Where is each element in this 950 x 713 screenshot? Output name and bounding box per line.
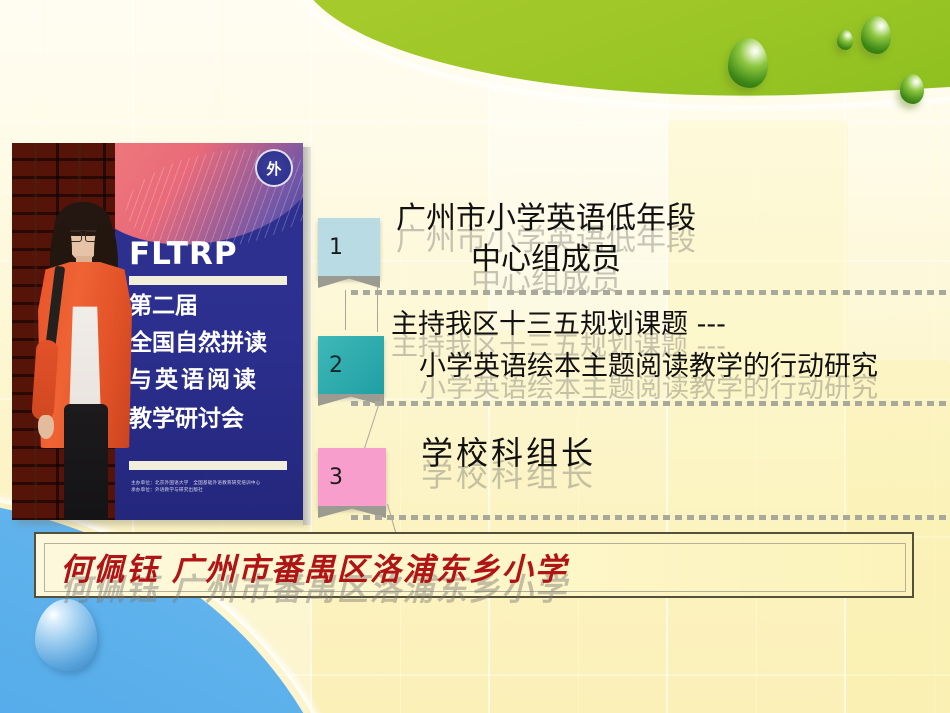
person-hand [38,415,54,439]
vertical-spine-divider [303,147,311,525]
timeline-row-1: 1 广州市小学英语低年段 中心组成员 广州市小学英语低年段 中心组成员 [311,190,950,298]
presentation-slide: 外 FLTRP 第二届 全国自然拼读 与英语阅读 教学研讨会 主办单位：北京外国… [0,0,950,713]
timeline-text-2: 主持我区十三五规划课题 --- 小学英语绘本主题阅读教学的行动研究 主持我区十三… [391,304,878,388]
person-figure [30,190,138,520]
timeline-text-3-line-1: 学校科组长 [421,428,596,474]
timeline-text-2-line-2: 小学英语绘本主题阅读教学的行动研究 [391,346,878,388]
banner-rule-bottom [129,461,287,470]
banner-fine-print-line-2: 承办单位：外语教学与研究出版社 [131,487,296,494]
timeline-divider-3 [351,515,950,520]
green-decorative-band [296,0,950,123]
timeline-text-1: 广州市小学英语低年段 中心组成员 广州市小学英语低年段 中心组成员 [396,198,696,280]
banner-line-3: 与英语阅读 [129,366,295,394]
conference-banner: 外 FLTRP 第二届 全国自然拼读 与英语阅读 教学研讨会 主办单位：北京外国… [115,143,303,520]
timeline-badge-1-number: 1 [329,235,343,260]
speaker-photo: 外 FLTRP 第二届 全国自然拼读 与英语阅读 教学研讨会 主办单位：北京外国… [12,143,303,520]
banner-fine-print-line-1: 主办单位：北京外国语大学 全国基础外语教育研究培训中心 [131,480,296,487]
timeline-row-2: 2 主持我区十三五规划课题 --- 小学英语绘本主题阅读教学的行动研究 主持我区… [311,298,950,410]
banner-line-2: 全国自然拼读 [129,329,295,357]
banner-line-1: 第二届 [129,292,295,320]
timeline-text-2-main: 主持我区十三五规划课题 --- 小学英语绘本主题阅读教学的行动研究 [391,304,878,388]
banner-fine-print: 主办单位：北京外国语大学 全国基础外语教育研究培训中心 承办单位：外语教学与研究… [131,480,296,494]
timeline-badge-1[interactable]: 1 [318,218,380,278]
banner-rule-top [129,276,287,285]
timeline-text-3: 学校科组长 学校科组长 [421,428,596,474]
timeline-text-1-line-2: 中心组成员 [396,239,696,280]
timeline-badge-2-number: 2 [329,353,343,378]
presenter-name-text: 何佩钰 广州市番禺区洛浦东乡小学 [60,544,568,589]
timeline-row-3: 3 学校科组长 学校科组长 [311,410,950,522]
timeline-badge-3-number: 3 [329,465,343,490]
timeline-badge-2[interactable]: 2 [318,336,384,396]
banner-line-4: 教学研讨会 [129,405,295,433]
timeline-text-2-line-1: 主持我区十三五规划课题 --- [391,304,878,346]
fltrp-logo-icon: 外 [255,149,293,187]
person-trousers [64,404,108,520]
timeline-divider-2 [351,401,950,406]
presenter-name-banner: 何佩钰 广州市番禺区洛浦东乡小学 何佩钰 广州市番禺区洛浦东乡小学 [34,532,914,598]
banner-brand-text: FLTRP [129,236,238,272]
timeline-badge-3[interactable]: 3 [318,448,386,508]
timeline-text-1-main: 广州市小学英语低年段 中心组成员 [396,198,696,280]
timeline-text-1-line-1: 广州市小学英语低年段 [396,198,696,239]
timeline-divider-1 [351,290,950,295]
